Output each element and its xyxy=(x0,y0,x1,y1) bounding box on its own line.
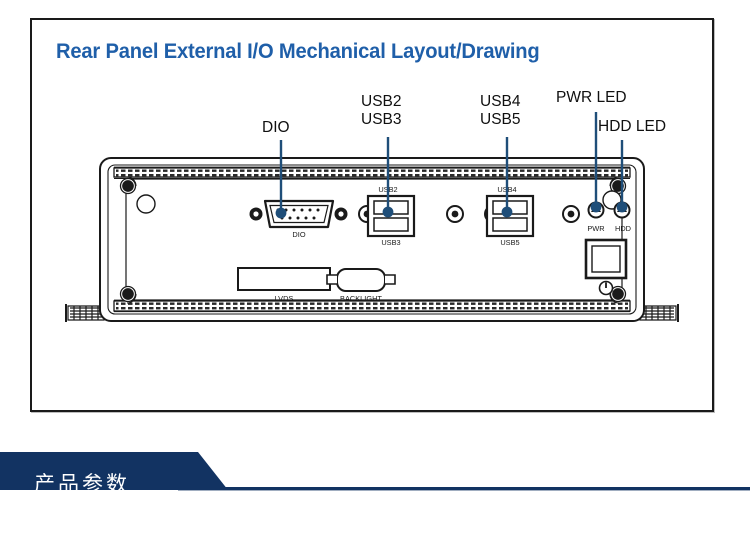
callout-hdd-led: HDD LED xyxy=(598,118,666,136)
label-usb2: USB2 xyxy=(378,185,397,194)
callout-dio: DIO xyxy=(262,119,290,137)
banner-title: 产品参数 xyxy=(34,468,130,498)
callout-usb45-line-1: USB5 xyxy=(480,111,521,129)
label-backlight: BACKLIGHT xyxy=(340,294,382,303)
callout-usb23-line-1: USB3 xyxy=(361,111,402,129)
label-dio: DIO xyxy=(292,230,305,239)
top-vent-band xyxy=(114,167,630,178)
mechanical-drawing: DIO USB2 USB3 USB4 USB5 PWR HDD LVDS BAC… xyxy=(30,18,714,412)
label-usb5: USB5 xyxy=(500,238,519,247)
callout-usb23: USB2 USB3 xyxy=(361,93,402,129)
callout-dio-line-0: DIO xyxy=(262,119,290,137)
callout-hdd-led-line-0: HDD LED xyxy=(598,118,666,136)
usb-stack-45 xyxy=(487,196,533,236)
callout-pwr-led-line-0: PWR LED xyxy=(556,89,627,107)
label-hdd: HDD xyxy=(615,224,631,233)
label-usb4: USB4 xyxy=(497,185,516,194)
power-symbol-icon xyxy=(600,282,613,295)
pwr-led-indicator xyxy=(589,203,604,218)
antenna-hole-left xyxy=(137,195,155,213)
banner-rule xyxy=(178,487,750,490)
callout-pwr-led: PWR LED xyxy=(556,89,627,107)
lvds-connector xyxy=(238,268,330,290)
callout-usb45-line-0: USB4 xyxy=(480,93,521,111)
label-lvds: LVDS xyxy=(275,294,294,303)
callout-usb45: USB4 USB5 xyxy=(480,93,521,129)
label-usb3: USB3 xyxy=(381,238,400,247)
power-button xyxy=(586,240,626,278)
callout-usb23-line-0: USB2 xyxy=(361,93,402,111)
usb-stack-23 xyxy=(368,196,414,236)
label-pwr: PWR xyxy=(587,224,604,233)
hdd-led-indicator xyxy=(615,203,630,218)
